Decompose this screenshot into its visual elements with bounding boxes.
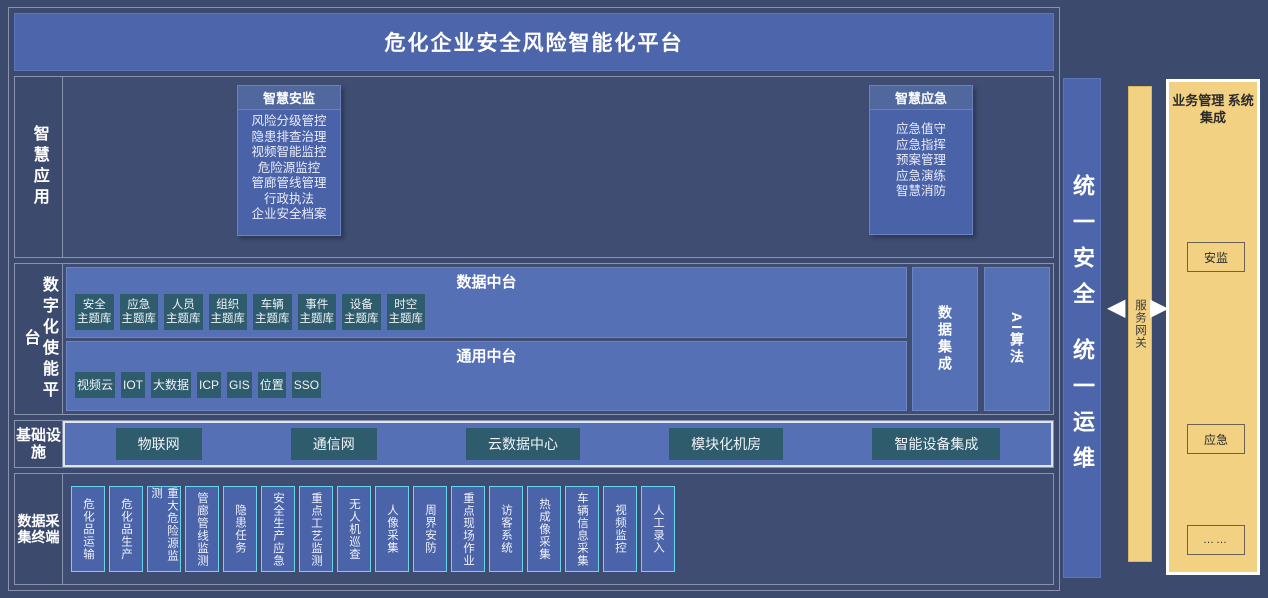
terminal-item[interactable]: 重点现场作业	[451, 486, 485, 572]
theme-library-chip[interactable]: 安全 主题库	[75, 294, 114, 330]
card-header-smart-supervision: 智慧安监	[238, 86, 340, 110]
architecture-diagram: 危化企业安全风险智能化平台 智慧应用 智慧安监 风险分级管控 隐患排查治理 视频…	[0, 0, 1268, 598]
card-items-smart-supervision: 风险分级管控 隐患排查治理 视频智能监控 危险源监控 管廊管线管理 行政执法 企…	[238, 110, 340, 235]
band-data-middle-platform: 数据中台 安全 主题库 应急 主题库 人员 主题库 组织 主题库 车辆 主题库 …	[66, 267, 907, 338]
platform-bands: 数据中台 安全 主题库 应急 主题库 人员 主题库 组织 主题库 车辆 主题库 …	[66, 267, 907, 411]
terminal-item[interactable]: 周界安防	[413, 486, 447, 572]
theme-library-chip[interactable]: 事件 主题库	[298, 294, 337, 330]
box-ai-algorithm[interactable]: AI算法	[984, 267, 1050, 411]
general-middle-chip-row: 视频云 IOT 大数据 ICP GIS 位置 SSO	[67, 367, 906, 411]
theme-library-chip[interactable]: 应急 主题库	[120, 294, 159, 330]
card-header-smart-emergency: 智慧应急	[870, 86, 972, 110]
terminals-layer-body: 危化品运输 危化品生产 重大危险源监测 管廊管线监测 隐患任务 安全生产应急 重…	[63, 474, 1053, 584]
terminal-item[interactable]: 安全生产应急	[261, 486, 295, 572]
theme-library-chip[interactable]: 设备 主题库	[342, 294, 381, 330]
terminal-item[interactable]: 危化品运输	[71, 486, 105, 572]
app-item[interactable]: 预案管理	[896, 153, 946, 169]
infrastructure-layer-body: 物联网 通信网 云数据中心 模块化机房 智能设备集成	[63, 421, 1053, 467]
terminal-item[interactable]: 车辆信息采集	[565, 486, 599, 572]
application-layer-body: 智慧安监 风险分级管控 隐患排查治理 视频智能监控 危险源监控 管廊管线管理 行…	[63, 77, 1053, 257]
service-chip[interactable]: GIS	[227, 372, 252, 398]
business-panel-title: 业务管理 系统集成	[1169, 92, 1257, 126]
terminal-item[interactable]: 重大危险源监测	[147, 486, 181, 572]
arrow-left-icon: ◀	[1107, 296, 1125, 320]
business-item-more[interactable]: ……	[1187, 525, 1245, 555]
terminal-item[interactable]: 危化品生产	[109, 486, 143, 572]
layer-label-application: 智慧应用	[15, 77, 63, 257]
service-chip[interactable]: IOT	[121, 372, 145, 398]
card-smart-emergency[interactable]: 智慧应急 应急值守 应急指挥 预案管理 应急演练 智慧消防	[869, 85, 973, 235]
infrastructure-chip[interactable]: 物联网	[116, 428, 202, 460]
layer-digital-enabling-platform: 数字化使能平台 数据中台 安全 主题库 应急 主题库 人员 主题库 组织 主题库…	[14, 263, 1054, 415]
data-middle-chip-row: 安全 主题库 应急 主题库 人员 主题库 组织 主题库 车辆 主题库 事件 主题…	[67, 293, 906, 337]
layer-label-terminals: 数据采集终端	[15, 474, 63, 584]
service-chip[interactable]: ICP	[197, 372, 221, 398]
terminal-item[interactable]: 隐患任务	[223, 486, 257, 572]
terminal-item[interactable]: 人工录入	[641, 486, 675, 572]
card-items-smart-emergency: 应急值守 应急指挥 预案管理 应急演练 智慧消防	[870, 110, 972, 234]
band-title-general-middle: 通用中台	[67, 342, 906, 367]
unified-security-ops-column: 统一安全 统一运维	[1063, 78, 1101, 578]
band-title-data-middle: 数据中台	[67, 268, 906, 293]
app-item[interactable]: 应急演练	[896, 169, 946, 185]
app-item[interactable]: 风险分级管控	[251, 114, 326, 130]
main-architecture-column: 危化企业安全风险智能化平台 智慧应用 智慧安监 风险分级管控 隐患排查治理 视频…	[8, 7, 1060, 591]
terminal-item[interactable]: 重点工艺监测	[299, 486, 333, 572]
app-item[interactable]: 隐患排查治理	[251, 130, 326, 146]
layer-infrastructure: 基础设施 物联网 通信网 云数据中心 模块化机房 智能设备集成	[14, 420, 1054, 468]
service-chip[interactable]: 视频云	[75, 372, 115, 398]
app-item[interactable]: 应急值守	[896, 122, 946, 138]
service-chip[interactable]: SSO	[292, 372, 321, 398]
app-item[interactable]: 危险源监控	[258, 161, 321, 177]
layer-label-infrastructure: 基础设施	[15, 421, 63, 467]
layer-data-collection-terminals: 数据采集终端 危化品运输 危化品生产 重大危险源监测 管廊管线监测 隐患任务 安…	[14, 473, 1054, 585]
app-item[interactable]: 管廊管线管理	[251, 176, 326, 192]
platform-side-boxes: 数据集成 AI算法	[907, 267, 1050, 411]
layer-smart-application: 智慧应用 智慧安监 风险分级管控 隐患排查治理 视频智能监控 危险源监控 管廊管…	[14, 76, 1054, 258]
app-item[interactable]: 应急指挥	[896, 138, 946, 154]
terminal-item[interactable]: 访客系统	[489, 486, 523, 572]
business-item-emergency[interactable]: 应急	[1187, 424, 1245, 454]
service-chip[interactable]: 大数据	[151, 372, 191, 398]
infrastructure-chip[interactable]: 通信网	[291, 428, 377, 460]
app-item[interactable]: 企业安全档案	[251, 207, 326, 223]
business-item-supervision[interactable]: 安监	[1187, 242, 1245, 272]
terminal-item[interactable]: 视频监控	[603, 486, 637, 572]
infrastructure-chip[interactable]: 云数据中心	[466, 428, 580, 460]
card-smart-supervision[interactable]: 智慧安监 风险分级管控 隐患排查治理 视频智能监控 危险源监控 管廊管线管理 行…	[237, 85, 341, 236]
band-general-middle-platform: 通用中台 视频云 IOT 大数据 ICP GIS 位置 SSO	[66, 341, 907, 412]
theme-library-chip[interactable]: 组织 主题库	[209, 294, 248, 330]
app-item[interactable]: 行政执法	[264, 192, 314, 208]
service-chip[interactable]: 位置	[258, 372, 286, 398]
app-item[interactable]: 智慧消防	[896, 184, 946, 200]
theme-library-chip[interactable]: 人员 主题库	[164, 294, 203, 330]
infrastructure-chip[interactable]: 模块化机房	[669, 428, 783, 460]
theme-library-chip[interactable]: 时空 主题库	[387, 294, 426, 330]
terminal-item[interactable]: 人像采集	[375, 486, 409, 572]
business-system-integration-panel: 业务管理 系统集成 安监 应急 ……	[1166, 79, 1260, 575]
service-gateway: 服务网关	[1128, 86, 1152, 562]
theme-library-chip[interactable]: 车辆 主题库	[253, 294, 292, 330]
infrastructure-chip[interactable]: 智能设备集成	[872, 428, 1000, 460]
platform-layer-body: 数据中台 安全 主题库 应急 主题库 人员 主题库 组织 主题库 车辆 主题库 …	[63, 264, 1053, 414]
box-data-integration[interactable]: 数据集成	[912, 267, 978, 411]
terminal-item[interactable]: 管廊管线监测	[185, 486, 219, 572]
page-title: 危化企业安全风险智能化平台	[14, 13, 1054, 71]
terminal-item[interactable]: 无人机巡查	[337, 486, 371, 572]
layer-label-platform: 数字化使能平台	[15, 264, 63, 414]
app-item[interactable]: 视频智能监控	[251, 145, 326, 161]
terminal-item[interactable]: 热成像采集	[527, 486, 561, 572]
